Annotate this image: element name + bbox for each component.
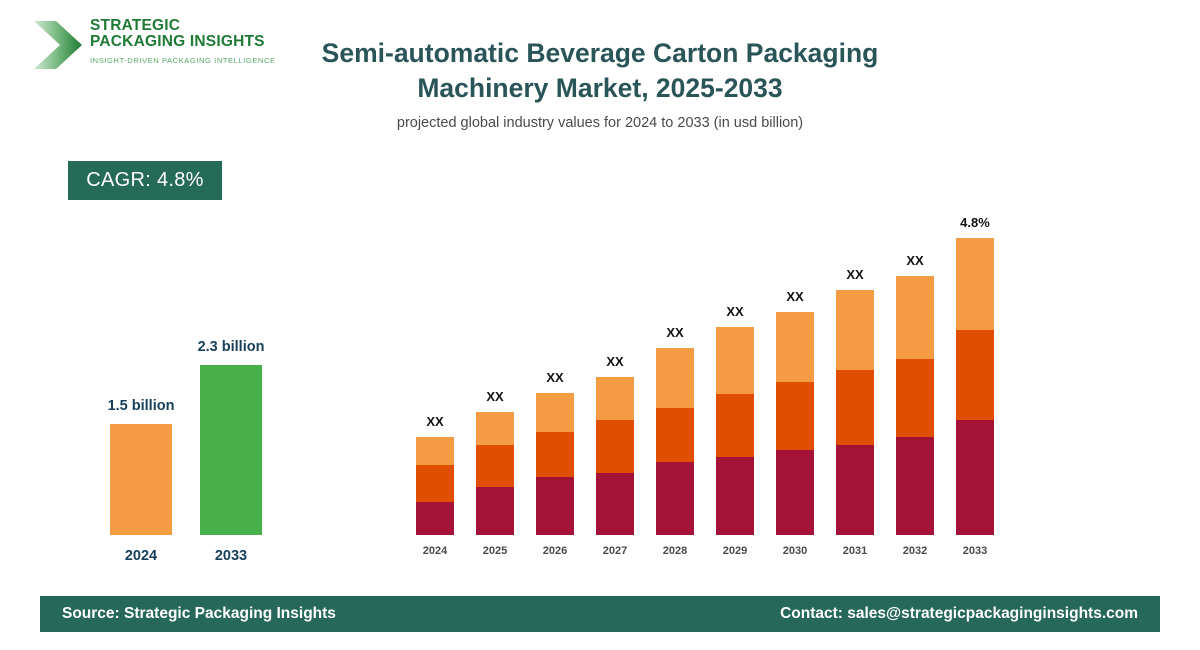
stacked-bar-segment-segment-2: [896, 359, 934, 437]
stacked-bar-value-label: XX: [580, 354, 650, 369]
brand-tagline: INSIGHT-DRIVEN PACKAGING INTELLIGENCE: [90, 56, 276, 65]
stacked-bar-chart: XX2024XX2025XX2026XX2027XX2028XX2029XX20…: [400, 200, 1010, 560]
stacked-bar-segment-segment-1: [596, 473, 634, 535]
stacked-bar-value-label: XX: [520, 370, 590, 385]
stacked-bar-column: [956, 238, 994, 535]
stacked-bar-segment-segment-2: [416, 465, 454, 502]
stacked-bar-column: [836, 290, 874, 535]
stacked-bar-year-label: 2032: [885, 545, 945, 557]
comparison-bar-year-label: 2033: [171, 548, 291, 564]
stacked-bar-column: [476, 412, 514, 535]
stacked-bar-segment-segment-3: [536, 393, 574, 432]
stacked-bar-segment-segment-3: [776, 312, 814, 382]
stacked-bar-segment-segment-1: [896, 437, 934, 535]
footer-contact: Contact: sales@strategicpackaginginsight…: [780, 605, 1138, 623]
footer-source: Source: Strategic Packaging Insights: [62, 605, 336, 623]
stacked-bar-segment-segment-1: [956, 420, 994, 535]
chart-title: Semi-automatic Beverage Carton Packaging…: [260, 36, 940, 106]
comparison-bar-chart: 1.5 billion20242.3 billion2033: [40, 230, 340, 570]
stacked-bar-segment-segment-3: [596, 377, 634, 420]
brand-logo: STRATEGIC PACKAGING INSIGHTS INSIGHT-DRI…: [32, 14, 262, 78]
chevron-logo-icon: [32, 18, 84, 72]
stacked-bar-segment-segment-2: [476, 445, 514, 487]
stacked-bar-segment-segment-3: [956, 238, 994, 330]
stacked-bar-segment-segment-2: [956, 330, 994, 420]
stacked-bar-year-label: 2029: [705, 545, 765, 557]
chart-subtitle: projected global industry values for 202…: [260, 115, 940, 131]
stacked-bar-segment-segment-2: [776, 382, 814, 450]
stacked-bar-segment-segment-2: [536, 432, 574, 477]
stacked-bar-year-label: 2031: [825, 545, 885, 557]
cagr-badge: CAGR: 4.8%: [68, 161, 222, 200]
stacked-bar-segment-segment-2: [656, 408, 694, 462]
stacked-bar-segment-segment-1: [716, 457, 754, 535]
brand-wordmark: STRATEGIC PACKAGING INSIGHTS INSIGHT-DRI…: [90, 18, 276, 65]
comparison-bar: [200, 365, 262, 535]
stacked-bar-value-label: XX: [400, 414, 470, 429]
stacked-bar-segment-segment-3: [656, 348, 694, 408]
stacked-bar-year-label: 2026: [525, 545, 585, 557]
stacked-bar-value-label: 4.8%: [940, 215, 1010, 230]
stacked-bar-column: [776, 312, 814, 535]
footer-bar: Source: Strategic Packaging Insights Con…: [40, 596, 1160, 632]
stacked-bar-segment-segment-3: [896, 276, 934, 359]
stacked-bar-value-label: XX: [820, 267, 890, 282]
stacked-bar-column: [716, 327, 754, 535]
stacked-bar-column: [416, 437, 454, 535]
stacked-bar-segment-segment-3: [476, 412, 514, 445]
stacked-bar-segment-segment-3: [716, 327, 754, 394]
stacked-bar-value-label: XX: [880, 253, 950, 268]
stacked-bar-segment-segment-1: [476, 487, 514, 535]
stacked-bar-segment-segment-1: [836, 445, 874, 535]
comparison-bar: [110, 424, 172, 535]
comparison-bar-value-label: 2.3 billion: [171, 339, 291, 355]
stacked-bar-value-label: XX: [760, 289, 830, 304]
stacked-bar-year-label: 2028: [645, 545, 705, 557]
stacked-bar-segment-segment-1: [776, 450, 814, 535]
stacked-bar-segment-segment-1: [416, 502, 454, 535]
stacked-bar-year-label: 2027: [585, 545, 645, 557]
stacked-bar-column: [896, 276, 934, 535]
stacked-bar-column: [536, 393, 574, 535]
stacked-bar-segment-segment-2: [836, 370, 874, 445]
stacked-bar-value-label: XX: [640, 325, 710, 340]
stacked-bar-year-label: 2030: [765, 545, 825, 557]
stacked-bar-value-label: XX: [460, 389, 530, 404]
stacked-bar-column: [656, 348, 694, 535]
stacked-bar-column: [596, 377, 634, 535]
brand-line-2: PACKAGING INSIGHTS: [90, 34, 276, 50]
stacked-bar-year-label: 2033: [945, 545, 1005, 557]
stacked-bar-year-label: 2024: [405, 545, 465, 557]
stacked-bar-value-label: XX: [700, 304, 770, 319]
brand-line-1: STRATEGIC: [90, 18, 276, 34]
stacked-bar-segment-segment-1: [656, 462, 694, 535]
stacked-bar-segment-segment-2: [716, 394, 754, 457]
stacked-bar-segment-segment-2: [596, 420, 634, 473]
stacked-bar-segment-segment-3: [416, 437, 454, 465]
stacked-bar-segment-segment-3: [836, 290, 874, 370]
stacked-bar-segment-segment-1: [536, 477, 574, 535]
comparison-bar-value-label: 1.5 billion: [81, 398, 201, 414]
stacked-bar-year-label: 2025: [465, 545, 525, 557]
